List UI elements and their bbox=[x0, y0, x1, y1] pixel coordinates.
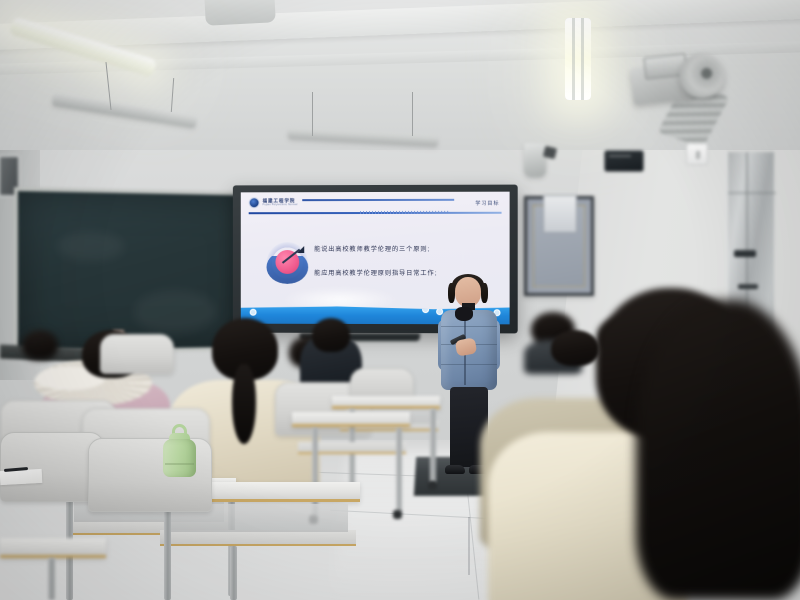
desk-leg bbox=[312, 428, 318, 516]
student-hair bbox=[636, 300, 800, 600]
wall-control-panel bbox=[604, 150, 644, 172]
desk-foot bbox=[393, 510, 402, 519]
university-logo-icon bbox=[249, 197, 260, 208]
header-accent-rule bbox=[302, 199, 454, 201]
green-thermos-bottle[interactable] bbox=[163, 425, 196, 477]
instructor-hair bbox=[448, 283, 455, 303]
instructor-collar bbox=[455, 307, 473, 321]
door-mullion bbox=[728, 192, 776, 194]
ponytail bbox=[232, 364, 256, 444]
target-dartboard-icon bbox=[267, 242, 309, 284]
desk-foot bbox=[428, 481, 437, 490]
light-wire bbox=[412, 92, 413, 136]
bottle-body bbox=[163, 439, 196, 477]
desk-leg bbox=[164, 502, 171, 600]
footer-dot-icon bbox=[422, 306, 429, 313]
university-logo-text: 福建工程学院 Fujian Polytechnic Normal bbox=[263, 199, 298, 206]
student bbox=[545, 330, 605, 390]
ceiling-ventilation-unit bbox=[629, 47, 731, 115]
arrow-icon bbox=[282, 246, 302, 266]
desk-shelf bbox=[160, 530, 356, 546]
student bbox=[636, 300, 800, 600]
wall-speaker bbox=[524, 143, 546, 177]
desk-leg bbox=[430, 409, 436, 483]
notice-paper bbox=[543, 195, 577, 233]
ceiling-mount bbox=[204, 0, 276, 26]
chalk-smudge bbox=[57, 231, 124, 261]
student-chair[interactable] bbox=[100, 334, 174, 374]
instructor-hair bbox=[481, 283, 488, 303]
university-logo: 福建工程学院 Fujian Polytechnic Normal bbox=[249, 197, 298, 208]
slide-section-label: 学习目标 bbox=[475, 200, 499, 207]
student-desk[interactable] bbox=[0, 538, 106, 558]
ceiling-beam bbox=[0, 0, 800, 51]
bottle-band bbox=[165, 463, 194, 465]
slide-bullet-2: 能应用高校教学伦理原则指导日常工作; bbox=[314, 268, 437, 277]
footer-dot-icon bbox=[250, 309, 257, 316]
header-dotted-rule bbox=[360, 211, 450, 214]
fluorescent-tube-light bbox=[565, 18, 591, 100]
door-handle[interactable] bbox=[734, 250, 756, 257]
desk-leg bbox=[230, 546, 237, 600]
pants-seam bbox=[468, 517, 470, 575]
desk-leg bbox=[396, 428, 402, 512]
student-desk[interactable] bbox=[332, 396, 440, 409]
wall-notice-frame bbox=[524, 196, 594, 296]
student-desk[interactable] bbox=[292, 412, 410, 427]
instructor-shoe bbox=[445, 465, 465, 474]
desk-leg bbox=[48, 558, 55, 600]
university-name-en: Fujian Polytechnic Normal bbox=[263, 204, 298, 207]
student-hair bbox=[551, 330, 599, 366]
slide-bullet-1: 能说出高校教师教学伦理的三个原则; bbox=[314, 244, 430, 253]
slide-header: 福建工程学院 Fujian Polytechnic Normal 学习目标 bbox=[241, 192, 510, 217]
light-wire bbox=[312, 92, 313, 136]
classroom-scene: 福建工程学院 Fujian Polytechnic Normal 学习目标 能说… bbox=[0, 0, 800, 600]
jacket-seam bbox=[441, 326, 497, 327]
wifi-access-point bbox=[686, 143, 708, 165]
